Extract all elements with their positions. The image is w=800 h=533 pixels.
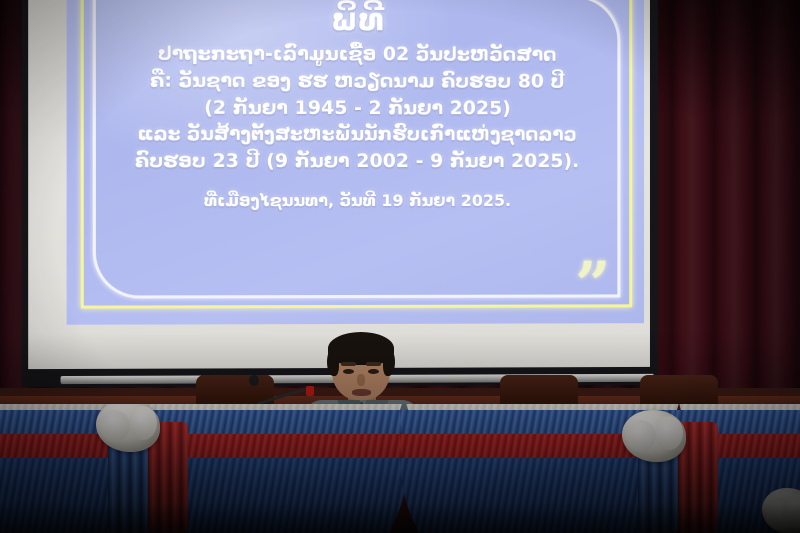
slide-line-4: ແລະ ວັນສ້າງຕັ້ງສະຫະພັນນັກຮົບເກົ່າແຫ່ງຊາດ… — [107, 122, 606, 149]
presentation-slide: “ ” ພິທີ ປາຖະກະຖາ-ເລົ່າມູນເຊື້ອ 02 ວັນປະ… — [67, 0, 644, 325]
projection-screen-surface: “ ” ພິທີ ປາຖະກະຖາ-ເລົ່າມູນເຊື້ອ 02 ວັນປະ… — [28, 0, 650, 369]
slide-line-3: (2 ກັນຍາ 1945 - 2 ກັນຍາ 2025) — [107, 94, 606, 122]
slide-title: ພິທີ — [107, 1, 606, 39]
slide-line-1: ປາຖະກະຖາ-ເລົ່າມູນເຊື້ອ 02 ວັນປະຫວັດສາດ — [107, 40, 606, 68]
quotation-mark-close-icon: ” — [575, 254, 610, 316]
projection-screen-frame: “ ” ພິທີ ປາຖະກະຖາ-ເລົ່າມູນເຊື້ອ 02 ວັນປະ… — [22, 0, 658, 387]
scene-bottom-shadow — [0, 333, 800, 533]
photo-scene: “ ” ພິທີ ປາຖະກະຖາ-ເລົ່າມູນເຊື້ອ 02 ວັນປະ… — [0, 0, 800, 533]
slide-text-block: ພິທີ ປາຖະກະຖາ-ເລົ່າມູນເຊື້ອ 02 ວັນປະຫວັດ… — [107, 1, 606, 210]
slide-line-2: ຄື: ວັນຊາດ ຂອງ ຮຮ ຫວຽດນາມ ຄົບຮອບ 80 ປີ — [107, 67, 606, 95]
slide-line-5: ຄົບຮອບ 23 ປີ (9 ກັນຍາ 2002 - 9 ກັນຍາ 202… — [107, 148, 606, 175]
slide-footer-location-date: ທີ່ເມືອງໄຊນນທາ, ວັນທີ 19 ກັນຍາ 2025. — [107, 191, 606, 210]
